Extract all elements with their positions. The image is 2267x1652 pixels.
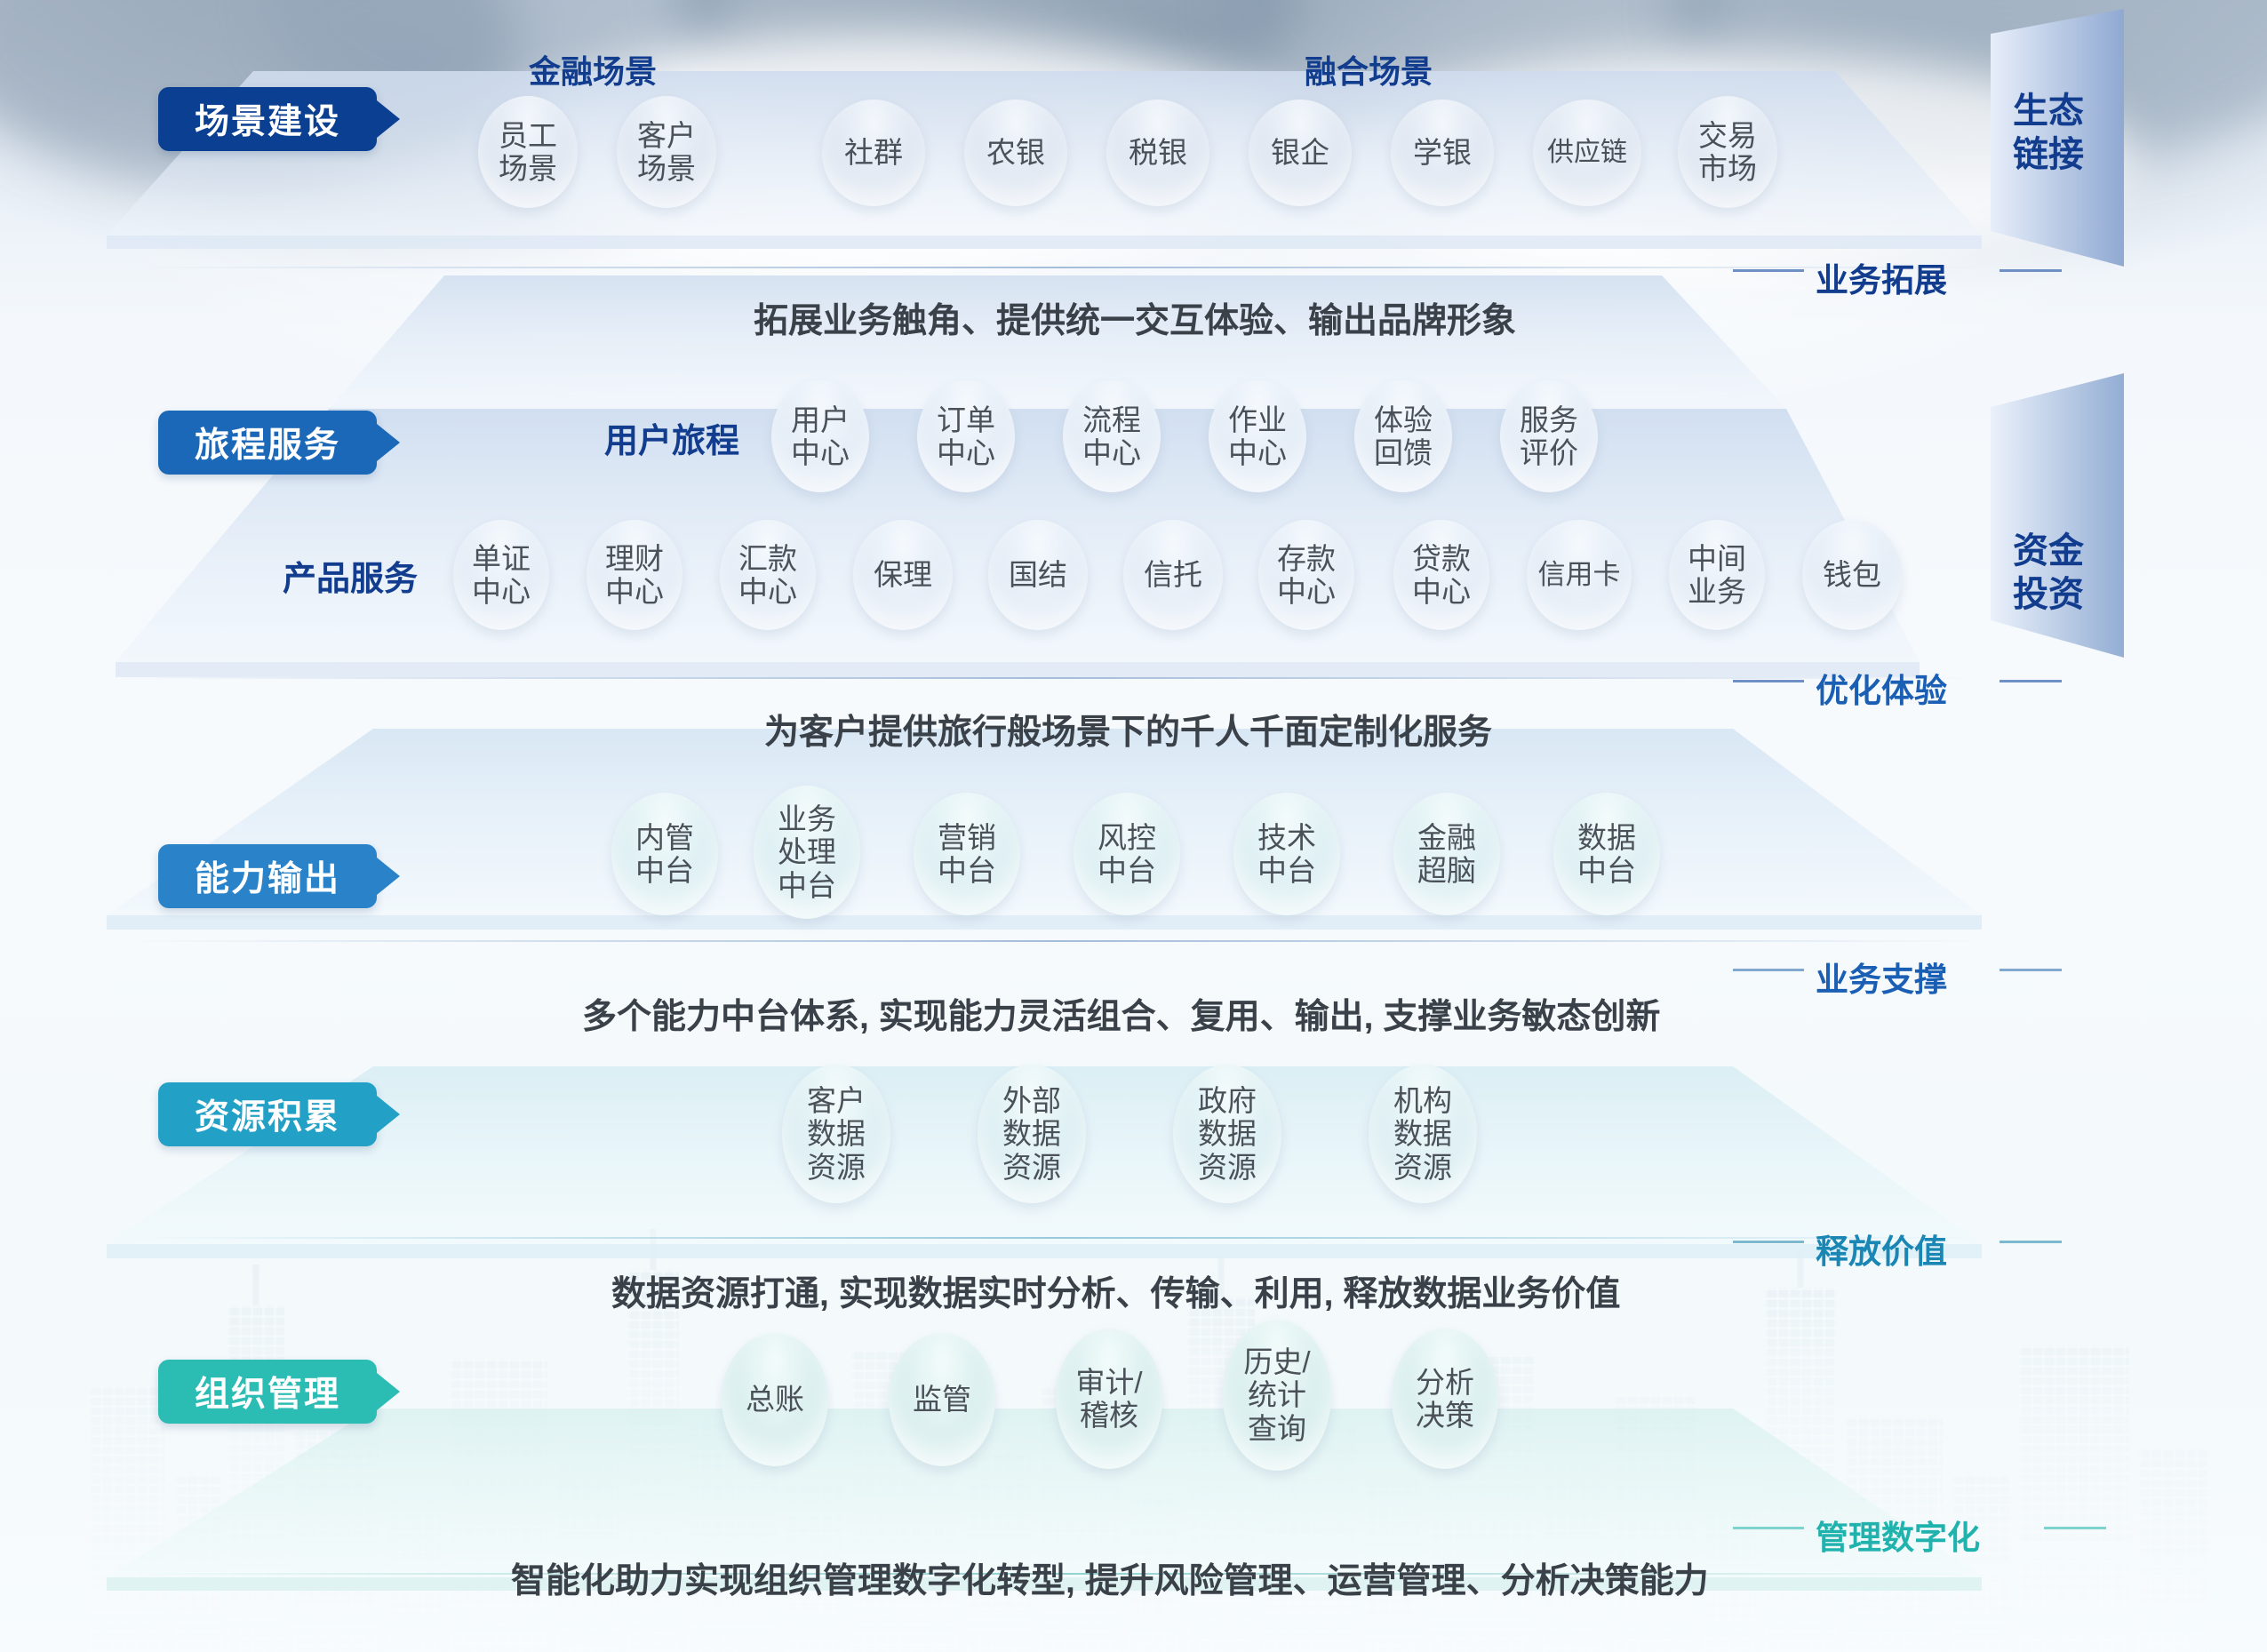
layer-tag-journey-service[interactable]: 旅程服务 bbox=[158, 411, 377, 475]
node-government-data-resource[interactable]: 政府 数据 资源 bbox=[1173, 1065, 1281, 1203]
keyword-business-expansion: 业务拓展 bbox=[1816, 253, 1947, 301]
node-agri-bank[interactable]: 农银 bbox=[964, 100, 1067, 206]
node-bank-enterprise[interactable]: 银企 bbox=[1249, 100, 1352, 206]
tag-arrow-icon bbox=[377, 1096, 400, 1133]
node-financial-brain[interactable]: 金融 超脑 bbox=[1393, 793, 1500, 915]
layer-tag-label: 能力输出 bbox=[195, 851, 340, 901]
layer-tag-resource-accumulation[interactable]: 资源积累 bbox=[158, 1082, 377, 1146]
layer-divider bbox=[133, 267, 1982, 268]
group-label-financial-scene: 金融场景 bbox=[529, 46, 657, 92]
node-marketing-platform[interactable]: 营销 中台 bbox=[914, 793, 1020, 915]
tag-arrow-icon bbox=[377, 858, 400, 895]
node-institution-data-resource[interactable]: 机构 数据 资源 bbox=[1369, 1065, 1477, 1203]
node-international-settlement[interactable]: 国结 bbox=[988, 520, 1088, 630]
keyword-rule-right bbox=[2044, 1527, 2106, 1529]
node-service-evaluation[interactable]: 服务 评价 bbox=[1500, 380, 1598, 492]
keyword-release-value: 释放价值 bbox=[1816, 1225, 1947, 1273]
node-supply-chain[interactable]: 供应链 bbox=[1533, 100, 1641, 206]
node-supervision[interactable]: 监管 bbox=[889, 1333, 995, 1466]
node-customer-data-resource[interactable]: 客户 数据 资源 bbox=[782, 1065, 890, 1203]
keyword-management-digitalization: 管理数字化 bbox=[1816, 1511, 1980, 1559]
group-label-product-service: 产品服务 bbox=[283, 551, 418, 600]
keyword-rule-right bbox=[2000, 1241, 2062, 1243]
node-external-data-resource[interactable]: 外部 数据 资源 bbox=[978, 1065, 1086, 1203]
tag-arrow-icon bbox=[377, 1373, 400, 1410]
node-data-platform[interactable]: 数据 中台 bbox=[1553, 793, 1660, 915]
node-business-processing-platform[interactable]: 业务 处理 中台 bbox=[754, 786, 860, 919]
keyword-rule-right bbox=[2000, 680, 2062, 682]
layer-divider bbox=[133, 1237, 1982, 1239]
layer-divider bbox=[133, 940, 1982, 942]
node-remittance-center[interactable]: 汇款 中心 bbox=[720, 520, 816, 630]
node-risk-control-platform[interactable]: 风控 中台 bbox=[1074, 793, 1180, 915]
node-intermediary-business[interactable]: 中间 业务 bbox=[1669, 520, 1765, 630]
node-loan-center[interactable]: 贷款 中心 bbox=[1393, 520, 1489, 630]
node-factoring[interactable]: 保理 bbox=[853, 520, 953, 630]
keyword-rule-left bbox=[1733, 1241, 1804, 1243]
node-user-center[interactable]: 用户 中心 bbox=[771, 380, 869, 492]
keyword-rule-right bbox=[2000, 969, 2062, 971]
node-trading-market[interactable]: 交易 市场 bbox=[1678, 96, 1777, 208]
keyword-rule-left bbox=[1733, 1527, 1804, 1529]
layer-tag-scene-building[interactable]: 场景建设 bbox=[158, 87, 377, 151]
node-tax-bank[interactable]: 税银 bbox=[1106, 100, 1209, 206]
node-wealth-center[interactable]: 理财 中心 bbox=[587, 520, 682, 630]
node-school-bank[interactable]: 学银 bbox=[1391, 100, 1494, 206]
layer-tag-capability-output[interactable]: 能力输出 bbox=[158, 844, 377, 908]
node-wallet[interactable]: 钱包 bbox=[1802, 520, 1902, 630]
layer-tag-label: 资源积累 bbox=[195, 1089, 340, 1139]
node-general-ledger[interactable]: 总账 bbox=[722, 1333, 828, 1466]
tag-arrow-icon bbox=[377, 100, 400, 138]
node-internal-mgmt-platform[interactable]: 内管 中台 bbox=[611, 793, 718, 915]
keyword-business-support: 业务支撑 bbox=[1816, 953, 1947, 1001]
group-label-fusion-scene: 融合场景 bbox=[1305, 46, 1433, 92]
layer-divider bbox=[116, 677, 1982, 679]
side-banner-ecosystem: 生态 链接 bbox=[1982, 36, 2115, 231]
layer-caption-scene-building: 拓展业务触角、提供统一交互体验、输出品牌形象 bbox=[754, 293, 1516, 343]
keyword-rule-right bbox=[2000, 269, 2062, 272]
node-deposit-center[interactable]: 存款 中心 bbox=[1258, 520, 1354, 630]
group-label-user-journey: 用户旅程 bbox=[604, 413, 739, 462]
node-technology-platform[interactable]: 技术 中台 bbox=[1233, 793, 1340, 915]
node-trust[interactable]: 信托 bbox=[1123, 520, 1223, 630]
node-order-center[interactable]: 订单 中心 bbox=[917, 380, 1015, 492]
node-experience-feedback[interactable]: 体验 回馈 bbox=[1354, 380, 1452, 492]
node-document-center[interactable]: 单证 中心 bbox=[453, 520, 549, 630]
layer-tag-label: 旅程服务 bbox=[195, 418, 340, 467]
keyword-rule-left bbox=[1733, 269, 1804, 272]
node-analysis-decision[interactable]: 分析 决策 bbox=[1392, 1329, 1498, 1469]
node-community[interactable]: 社群 bbox=[822, 100, 925, 206]
node-credit-card[interactable]: 信用卡 bbox=[1527, 520, 1632, 630]
layer-caption-resource-accumulation: 数据资源打通, 实现数据实时分析、传输、利用, 释放数据业务价值 bbox=[611, 1266, 1620, 1316]
node-task-center[interactable]: 作业 中心 bbox=[1209, 380, 1306, 492]
layer-tag-organization-management[interactable]: 组织管理 bbox=[158, 1360, 377, 1424]
node-process-center[interactable]: 流程 中心 bbox=[1063, 380, 1161, 492]
layer-tag-label: 组织管理 bbox=[195, 1367, 340, 1417]
node-audit-inspection[interactable]: 审计/ 稽核 bbox=[1056, 1329, 1162, 1469]
keyword-rule-left bbox=[1733, 969, 1804, 971]
layer-caption-capability-output: 多个能力中台体系, 实现能力灵活组合、复用、输出, 支撑业务敏态创新 bbox=[582, 989, 1660, 1039]
layer-caption-journey-service: 为客户提供旅行般场景下的千人千面定制化服务 bbox=[764, 705, 1492, 754]
node-customer-scene[interactable]: 客户 场景 bbox=[617, 96, 716, 208]
layer-tag-label: 场景建设 bbox=[195, 94, 340, 144]
layer-caption-organization-management: 智能化助力实现组织管理数字化转型, 提升风险管理、运营管理、分析决策能力 bbox=[511, 1553, 1709, 1603]
node-history-statistics-query[interactable]: 历史/ 统计 查询 bbox=[1223, 1320, 1331, 1471]
keyword-optimize-experience: 优化体验 bbox=[1816, 664, 1947, 712]
node-employee-scene[interactable]: 员工 场景 bbox=[478, 96, 578, 208]
side-banner-funding: 资金 投资 bbox=[1982, 498, 2115, 649]
keyword-rule-left bbox=[1733, 680, 1804, 682]
tag-arrow-icon bbox=[377, 424, 400, 461]
